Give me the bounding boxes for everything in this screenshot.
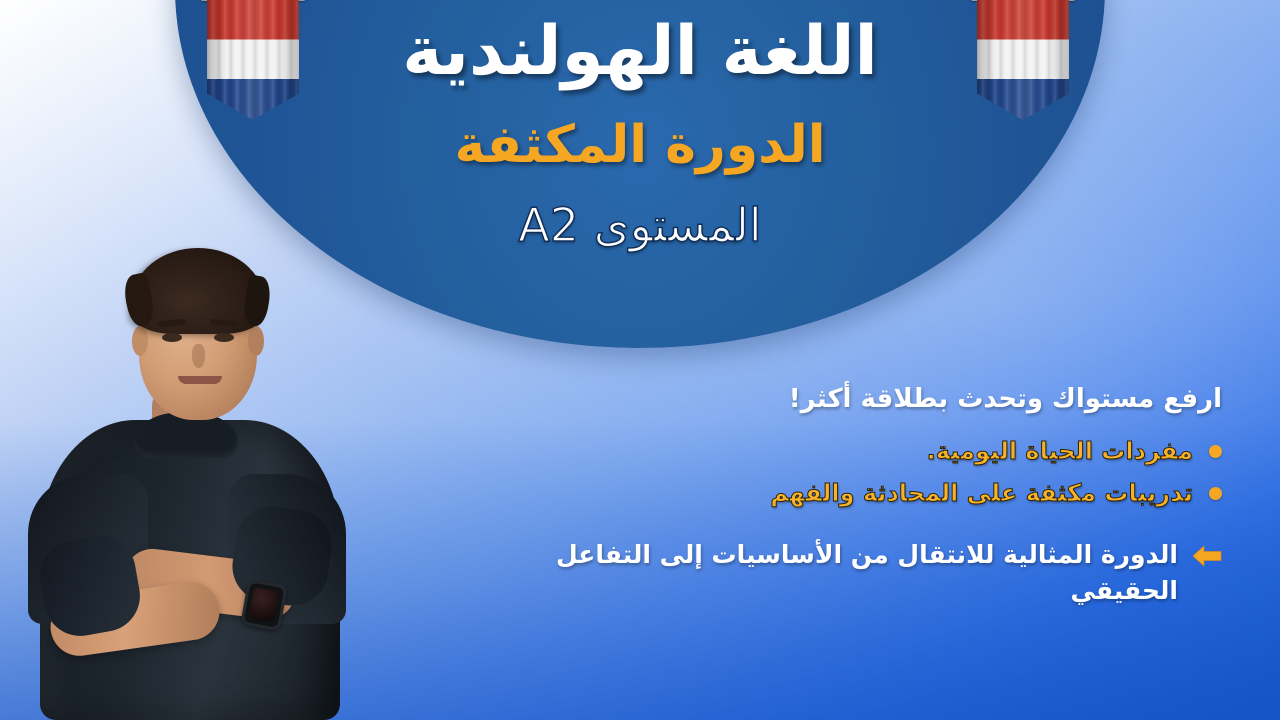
closing-statement: الدورة المثالية للانتقال من الأساسيات إل…: [532, 537, 1222, 610]
arrow-left-icon: [1192, 543, 1222, 573]
portrait-mouth: [178, 376, 222, 384]
student-portrait-photo: [6, 200, 366, 720]
course-details: ارفع مستواك وتحدث بطلاقة أكثر! مفردات ال…: [532, 383, 1222, 609]
bullet-dot-icon: [1209, 445, 1222, 458]
portrait-wristwatch: [240, 579, 287, 631]
list-item: تدريبات مكثفة على المحادثة والفهم: [532, 478, 1222, 509]
page-title: اللغة الهولندية: [0, 14, 1280, 90]
portrait-hair: [132, 248, 264, 334]
headline-block: اللغة الهولندية الدورة المكثفة المستوى A…: [0, 14, 1280, 253]
portrait-ear-left: [132, 326, 148, 356]
course-poster: اللغة الهولندية الدورة المكثفة المستوى A…: [0, 0, 1280, 720]
portrait-nose: [192, 344, 205, 368]
feature-list: مفردات الحياة اليومية. تدريبات مكثفة على…: [532, 436, 1222, 509]
portrait-eye-right: [214, 333, 234, 342]
course-subtitle: الدورة المكثفة: [0, 116, 1280, 176]
course-level: المستوى A2: [0, 198, 1280, 253]
feature-text: مفردات الحياة اليومية.: [927, 436, 1193, 467]
portrait-eye-left: [162, 333, 182, 342]
tagline: ارفع مستواك وتحدث بطلاقة أكثر!: [532, 383, 1222, 416]
feature-text: تدريبات مكثفة على المحادثة والفهم: [770, 478, 1193, 509]
portrait-ear-right: [248, 326, 264, 356]
list-item: مفردات الحياة اليومية.: [532, 436, 1222, 467]
bullet-dot-icon: [1209, 487, 1222, 500]
closing-text: الدورة المثالية للانتقال من الأساسيات إل…: [532, 537, 1178, 610]
